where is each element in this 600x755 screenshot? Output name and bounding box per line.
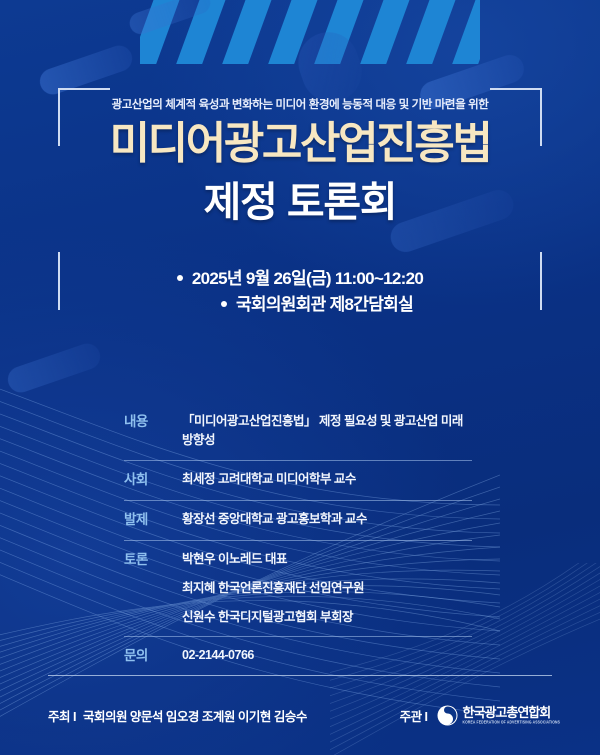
- host-names: 국회의원 양문석 임오경 조계원 이기현 김승수: [83, 706, 307, 725]
- panel-member: 최지혜 한국언론진흥재단 선임연구원: [182, 579, 472, 598]
- program-label: 문의: [124, 646, 182, 666]
- organizer-name-ko: 한국광고총연합회: [463, 706, 560, 719]
- organizer-block: 주관 I 한국광고총연합회 KOREA FEDERATION OF ADVERT…: [400, 705, 560, 726]
- program-label: 사회: [124, 470, 182, 490]
- organizer-label: 주관 I: [400, 706, 428, 725]
- poster-title-line2: 제정 토론회: [0, 182, 600, 223]
- kfaa-circle-logo-icon: [437, 705, 458, 726]
- program-value: 황장선 중앙대학교 광고홍보학과 교수: [182, 510, 472, 529]
- poster-title-line1: 미디어광고산업진흥법: [0, 122, 600, 166]
- program-label: 발제: [124, 510, 182, 530]
- panel-member: 박현우 이노레드 대표: [182, 550, 472, 569]
- event-poster: 광고산업의 체계적 육성과 변화하는 미디어 환경에 능동적 대응 및 기반 마…: [0, 0, 600, 755]
- program-row-panel: 토론 박현우 이노레드 대표 최지혜 한국언론진흥재단 선임연구원 신원수 한국…: [124, 540, 472, 636]
- organizer-name-en: KOREA FEDERATION OF ADVERTISING ASSOCIAT…: [463, 721, 560, 725]
- program-label: 내용: [124, 412, 182, 432]
- event-date: 2025년 9월 26일(금) 11:00~12:20: [192, 269, 423, 288]
- program-table: 내용 「미디어광고산업진흥법」 제정 필요성 및 광고산업 미래 방향성 사회 …: [124, 403, 472, 677]
- event-date-line: 2025년 9월 26일(금) 11:00~12:20: [0, 266, 600, 292]
- host-label: 주최 I: [48, 706, 76, 725]
- poster-subtitle: 광고산업의 체계적 육성과 변화하는 미디어 환경에 능동적 대응 및 기반 마…: [0, 96, 600, 112]
- program-row-presenter: 발제 황장선 중앙대학교 광고홍보학과 교수: [124, 500, 472, 540]
- program-value-panel: 박현우 이노레드 대표 최지혜 한국언론진흥재단 선임연구원 신원수 한국디지털…: [182, 550, 472, 626]
- poster-footer: 주최 I 국회의원 양문석 임오경 조계원 이기현 김승수 주관 I 한국광고총…: [48, 705, 560, 726]
- organizer-names: 한국광고총연합회 KOREA FEDERATION OF ADVERTISING…: [463, 706, 560, 724]
- program-row-moderator: 사회 최세정 고려대학교 미디어학부 교수: [124, 460, 472, 500]
- bullet-icon: [221, 301, 227, 307]
- contact-phone: 02-2144-0766: [182, 646, 472, 665]
- event-venue-line: 국회의원회관 제8간담회실: [0, 292, 600, 318]
- program-value: 「미디어광고산업진흥법」 제정 필요성 및 광고산업 미래 방향성: [182, 412, 472, 450]
- bullet-icon: [177, 275, 183, 281]
- program-row-content: 내용 「미디어광고산업진흥법」 제정 필요성 및 광고산업 미래 방향성: [124, 403, 472, 460]
- program-row-contact: 문의 02-2144-0766: [124, 636, 472, 676]
- organizer-logo: 한국광고총연합회 KOREA FEDERATION OF ADVERTISING…: [437, 705, 560, 726]
- frame-corner-top-right: [490, 88, 542, 90]
- footer-divider: [48, 675, 552, 676]
- event-meta: 2025년 9월 26일(금) 11:00~12:20 국회의원회관 제8간담회…: [0, 266, 600, 319]
- panel-member: 신원수 한국디지털광고협회 부회장: [182, 608, 472, 627]
- event-venue: 국회의원회관 제8간담회실: [236, 295, 413, 314]
- frame-corner-top-left: [58, 88, 110, 90]
- program-label: 토론: [124, 550, 182, 570]
- program-value: 최세정 고려대학교 미디어학부 교수: [182, 470, 472, 489]
- host-block: 주최 I 국회의원 양문석 임오경 조계원 이기현 김승수: [48, 706, 307, 725]
